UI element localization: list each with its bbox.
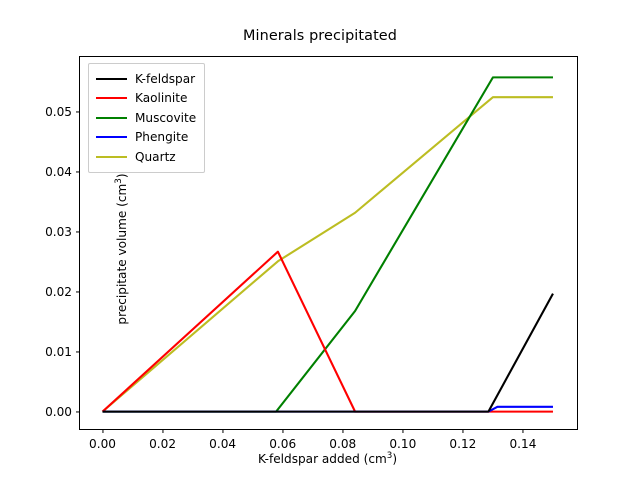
y-tick-mark <box>76 112 80 113</box>
x-tick-label: 0.08 <box>329 437 356 451</box>
x-tick-mark <box>402 429 403 433</box>
legend-item-label: K-feldspar <box>135 72 195 86</box>
legend-item-label: Quartz <box>135 150 176 164</box>
x-tick-label: 0.14 <box>509 437 536 451</box>
legend-item-label: Muscovite <box>135 111 196 125</box>
legend-swatch-icon <box>96 136 127 138</box>
x-tick-label: 0.00 <box>89 437 116 451</box>
matplotlib-figure: Minerals precipitated 0.000.010.020.030.… <box>0 0 640 480</box>
y-tick-mark <box>76 291 80 292</box>
x-axis-label: K-feldspar added (cm3) <box>79 452 576 466</box>
legend-item-k-feldspar[interactable]: K-feldspar <box>96 69 196 89</box>
legend-swatch-icon <box>96 97 127 99</box>
y-axis-label-text: precipitate volume (cm <box>115 184 129 325</box>
y-tick-mark <box>76 351 80 352</box>
y-tick-mark <box>76 171 80 172</box>
x-tick-label: 0.12 <box>449 437 476 451</box>
y-tick-mark <box>76 231 80 232</box>
series-line-kaolinite <box>103 252 553 412</box>
legend-item-kaolinite[interactable]: Kaolinite <box>96 89 196 109</box>
y-tick-label: 0.05 <box>45 105 72 119</box>
x-axis-label-tail: ) <box>392 452 397 466</box>
legend-swatch-icon <box>96 117 127 119</box>
x-tick-label: 0.06 <box>269 437 296 451</box>
x-tick-mark <box>282 429 283 433</box>
legend-swatch-icon <box>96 78 127 80</box>
x-tick-label: 0.02 <box>149 437 176 451</box>
x-tick-mark <box>342 429 343 433</box>
x-tick-mark <box>162 429 163 433</box>
y-tick-label: 0.01 <box>45 345 72 359</box>
x-tick-mark <box>222 429 223 433</box>
legend-item-label: Phengite <box>135 130 188 144</box>
x-tick-mark <box>102 429 103 433</box>
legend-item-quartz[interactable]: Quartz <box>96 147 196 167</box>
chart-title: Minerals precipitated <box>0 28 640 44</box>
legend-item-phengite[interactable]: Phengite <box>96 128 196 148</box>
legend-item-label: Kaolinite <box>135 91 187 105</box>
y-tick-label: 0.03 <box>45 225 72 239</box>
legend-swatch-icon <box>96 156 127 158</box>
x-tick-label: 0.04 <box>209 437 236 451</box>
x-tick-mark <box>522 429 523 433</box>
y-tick-mark <box>76 411 80 412</box>
y-axis-label-sup: 3 <box>114 178 124 184</box>
x-axis-label-text: K-feldspar added (cm <box>258 452 387 466</box>
x-tick-mark <box>462 429 463 433</box>
y-tick-label: 0.04 <box>45 165 72 179</box>
y-tick-label: 0.00 <box>45 405 72 419</box>
x-tick-label: 0.10 <box>389 437 416 451</box>
chart-legend: K-feldsparKaoliniteMuscovitePhengiteQuar… <box>88 63 205 173</box>
y-axis-label-tail: ) <box>115 173 129 178</box>
legend-item-muscovite[interactable]: Muscovite <box>96 108 196 128</box>
y-tick-label: 0.02 <box>45 285 72 299</box>
